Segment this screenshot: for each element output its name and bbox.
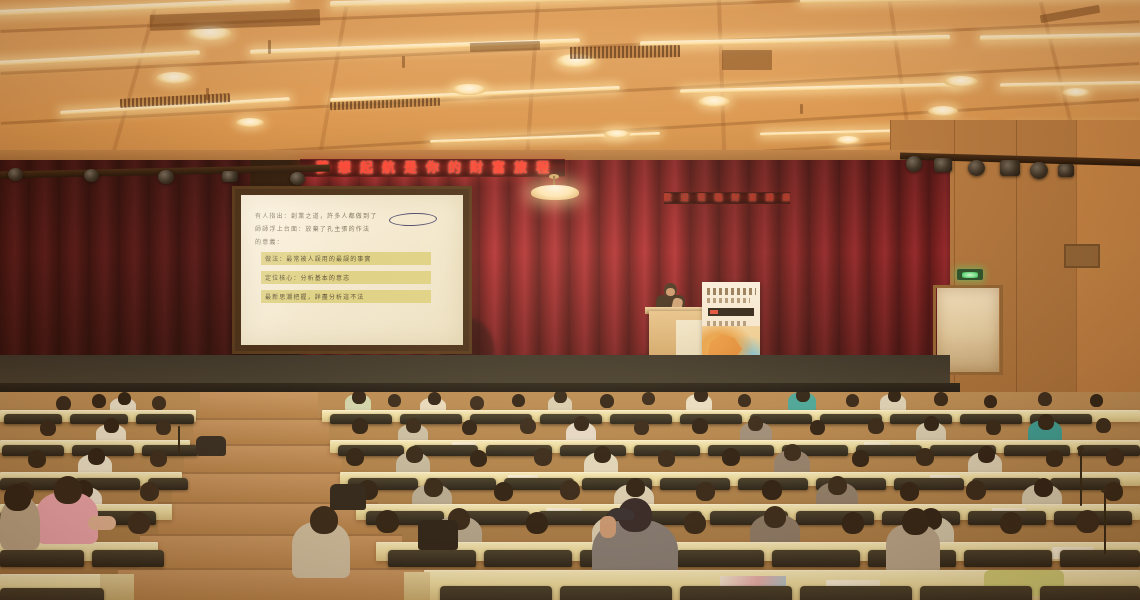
attendee-head [1096, 418, 1111, 433]
attendee-head [762, 480, 782, 500]
seat-back [92, 550, 164, 567]
exit-sign-icon [957, 269, 983, 280]
attendee-head [916, 448, 934, 466]
attendee-head [388, 394, 401, 407]
attendee-head [462, 420, 477, 435]
attendee-head [470, 450, 487, 467]
stage-spotlight [222, 171, 238, 182]
wall-picture-frame [1064, 244, 1100, 268]
seat-back [772, 550, 860, 567]
attendee-head [118, 392, 131, 405]
stage-spotlight [968, 160, 985, 176]
seat-back [1060, 550, 1140, 567]
slide-highlight-line: 最新思潮把握，詳盡分析這不法 [261, 290, 431, 303]
attendee-head [352, 418, 368, 434]
seat-back [660, 478, 730, 490]
attendee-head [140, 482, 159, 501]
projection-screen: 有人指出：創業之道，許多人都做到了 師師浮上台面：放棄了孔主張的作法 的意義： … [232, 186, 472, 354]
banner-char: 富 [492, 162, 505, 175]
banner-char: 想 [338, 162, 351, 175]
attendee-head [784, 444, 801, 461]
attendee-hand [600, 516, 616, 538]
banner-char: 起 [360, 162, 373, 175]
attendee-head [1038, 414, 1054, 430]
seat-back-front [440, 586, 552, 600]
attendee-arm [88, 516, 116, 530]
slide-text-line: 師師浮上台面：放棄了孔主張的作法 [255, 224, 451, 233]
slide-text-line: 的意義： [255, 237, 451, 246]
attendee-head [88, 448, 105, 465]
attendee-head [1076, 510, 1099, 533]
banner-char: 程 [536, 162, 549, 175]
attendee-head [494, 482, 513, 501]
center-aisle [200, 392, 318, 418]
seat-back-front [0, 588, 104, 600]
attendee-head [696, 482, 715, 501]
center-aisle [118, 568, 428, 600]
poster-title-text [707, 288, 756, 295]
right-led-banner: 歡 迎 蒞 臨 財 富 講 座 [664, 192, 790, 204]
banner-char: 座 [783, 194, 791, 202]
pendant-lamp-shade [531, 185, 579, 200]
seat-back-front [920, 586, 1032, 600]
seat-back-front [680, 586, 792, 600]
attendee-head [40, 420, 56, 436]
attendee-head [376, 510, 399, 533]
banner-char: 迎 [681, 194, 689, 202]
attendee-head [560, 480, 580, 500]
projection-screen-surface: 有人指出：創業之道，許多人都做到了 師師浮上台面：放棄了孔主張的作法 的意義： … [241, 195, 463, 345]
stage-spotlight [1000, 160, 1020, 176]
stage-spotlight [84, 169, 99, 182]
attendee-head [104, 418, 119, 433]
attendee-head [534, 448, 552, 466]
attendee-head [842, 512, 864, 534]
seat-back [70, 414, 128, 424]
seat-back [708, 445, 774, 456]
attendee-head [902, 508, 929, 535]
attendee-head [934, 392, 948, 406]
banner-char: 你 [426, 162, 439, 175]
attendee-head [406, 418, 421, 433]
attendee-head [526, 512, 548, 534]
banner-char: 旅 [514, 162, 527, 175]
stage-spotlight [8, 168, 23, 181]
attendee-head [810, 420, 825, 435]
attendee-head [1034, 478, 1053, 497]
attendee-head [692, 418, 708, 434]
attendee-head [626, 478, 645, 497]
attendee-head [1106, 448, 1124, 466]
attendee-head [574, 416, 589, 431]
attendee-head [512, 394, 525, 407]
attendee-head [846, 394, 859, 407]
attendee-head [594, 446, 611, 463]
attendee-head [54, 476, 82, 504]
seat-back [676, 550, 764, 567]
seat-back-front [800, 586, 912, 600]
attendee-head [684, 512, 706, 534]
attendee-head [852, 450, 869, 467]
attendee-head [966, 480, 986, 500]
attendee-head [1090, 394, 1103, 407]
attendee-head [128, 512, 150, 534]
attendee-head [764, 506, 786, 528]
seat-back [680, 414, 742, 424]
banner-char: 蒞 [698, 194, 706, 202]
attendee-head [828, 476, 847, 495]
backpack [196, 436, 226, 456]
backpack [418, 520, 458, 550]
attendee-head [152, 396, 166, 410]
attendee-head [56, 396, 71, 411]
stage-spotlight [290, 172, 305, 185]
microphone-head-icon [1077, 446, 1084, 451]
attendee-head [658, 450, 675, 467]
backpack [330, 484, 366, 510]
desk-end-panel [404, 572, 430, 600]
attendee-head [986, 420, 1001, 435]
stage-spotlight [1058, 164, 1074, 177]
seat-back [890, 414, 952, 424]
attendee-head [900, 482, 919, 501]
attendee-head [868, 418, 884, 434]
attendee-head [984, 395, 997, 408]
attendee-head [150, 450, 167, 467]
banner-char: 講 [766, 194, 774, 202]
attendee-head [600, 394, 614, 408]
stage-led-banner: 夢 想 起 航 是 你 的 財 富 旅 程 [300, 159, 565, 177]
attendee-head [156, 420, 171, 435]
poster-subtitle-text [707, 298, 750, 303]
attendee-head [520, 418, 536, 434]
attendee-head [4, 484, 31, 511]
attendee-head [406, 446, 423, 463]
attendee-head [352, 392, 366, 404]
banner-char: 財 [470, 162, 483, 175]
microphone-stand [1080, 450, 1082, 506]
attendee-head [424, 478, 443, 497]
center-aisle [140, 534, 402, 568]
stage-spotlight [158, 170, 174, 184]
attendee-head [748, 416, 763, 431]
attendee-head [554, 392, 567, 403]
poster-accent-bar [708, 308, 754, 316]
seat-back [388, 550, 476, 567]
microphone-stand [1104, 492, 1106, 554]
desk-end-panel [100, 574, 134, 600]
attendee-head [346, 448, 364, 466]
presenter-face [666, 288, 675, 296]
banner-char: 航 [382, 162, 395, 175]
banner-char: 是 [404, 162, 417, 175]
microphone-stand [178, 426, 180, 456]
attendee-head [28, 450, 46, 468]
attendee-head [924, 416, 939, 431]
attendee-head [634, 420, 649, 435]
attendee-head [310, 506, 338, 534]
attendee-head [428, 392, 441, 405]
attendee-head [92, 394, 106, 408]
attendee-head [738, 394, 751, 407]
banner-char: 臨 [715, 194, 723, 202]
stage-spotlight [906, 156, 922, 172]
banner-char: 財 [732, 194, 740, 202]
banner-char: 的 [448, 162, 461, 175]
attendee-head [978, 446, 995, 463]
stage-spotlight [1030, 162, 1048, 179]
seat-back [484, 550, 572, 567]
seat-back-front [560, 586, 672, 600]
audience-seating [0, 392, 1140, 600]
attendee-head [470, 396, 484, 410]
attendee-head [722, 448, 740, 466]
attendee-head [642, 392, 655, 405]
banner-char: 富 [749, 194, 757, 202]
seat-back [964, 550, 1052, 567]
lecture-hall-photo: 夢 想 起 航 是 你 的 財 富 旅 程 歡 迎 蒞 臨 財 富 講 座 有人 [0, 0, 1140, 600]
attendee-head [1038, 392, 1052, 406]
banner-char: 歡 [664, 194, 672, 202]
attendee-head [1000, 512, 1022, 534]
attendee-head [1046, 450, 1063, 467]
slide-highlight-line: 做法：最常被人誤用的最誤的事實 [261, 252, 431, 265]
slide-highlight-line: 定位核心：分析基本的意志 [261, 271, 431, 284]
seat-back [540, 414, 602, 424]
attendee-head [888, 392, 901, 402]
seat-back [0, 550, 84, 567]
stage-spotlight [934, 158, 952, 172]
seat-back-front [1040, 586, 1140, 600]
microphone-head-icon [1101, 488, 1108, 493]
